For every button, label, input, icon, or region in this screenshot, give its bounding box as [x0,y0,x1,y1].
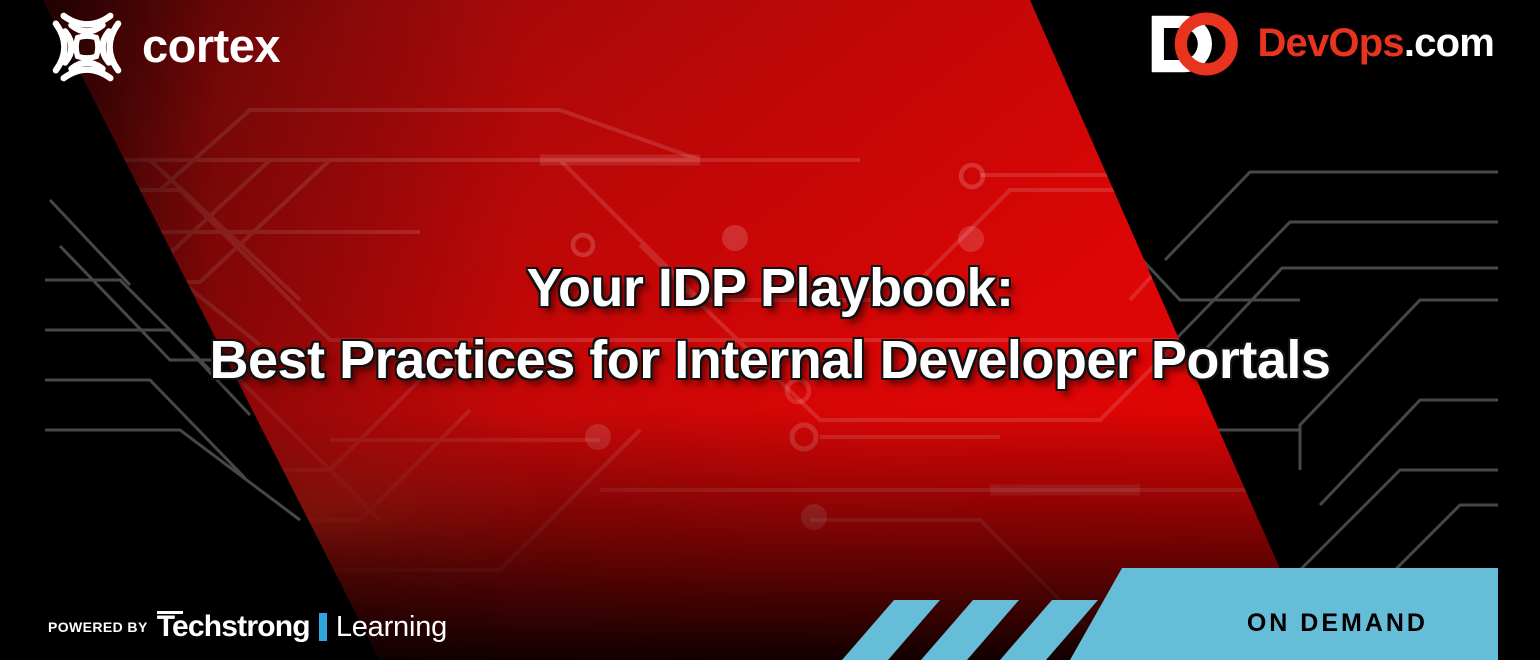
techstrong-wordmark: Techstrong [157,612,310,642]
devops-word-primary: DevOps [1257,21,1403,65]
cortex-mark-icon [48,8,126,86]
powered-by-label: POWERED BY [48,619,148,635]
band-right-gutter [1498,560,1540,660]
devops-logo[interactable]: DevOps.com [1147,12,1494,76]
on-demand-label: ON DEMAND [1247,609,1428,638]
headline-line-1: Your IDP Playbook: [0,258,1540,318]
powered-by-techstrong-learning[interactable]: POWERED BY Techstrong Learning [48,612,447,642]
devops-word-suffix: .com [1404,21,1494,65]
devops-do-monogram-icon [1147,12,1243,76]
vertical-bar-divider-icon [319,613,327,641]
devops-wordmark: DevOps.com [1257,23,1494,65]
learning-wordmark: Learning [336,613,447,642]
on-demand-badge [840,560,1540,660]
webinar-banner: cortex DevOps.com Your IDP Playbook: Bes… [0,0,1540,660]
diagonal-stripes-icon [842,600,1098,660]
page-title: Your IDP Playbook: Best Practices for In… [0,258,1540,391]
cortex-wordmark: cortex [142,22,280,73]
headline-line-2: Best Practices for Internal Developer Po… [0,330,1540,390]
cortex-logo[interactable]: cortex [48,8,280,86]
